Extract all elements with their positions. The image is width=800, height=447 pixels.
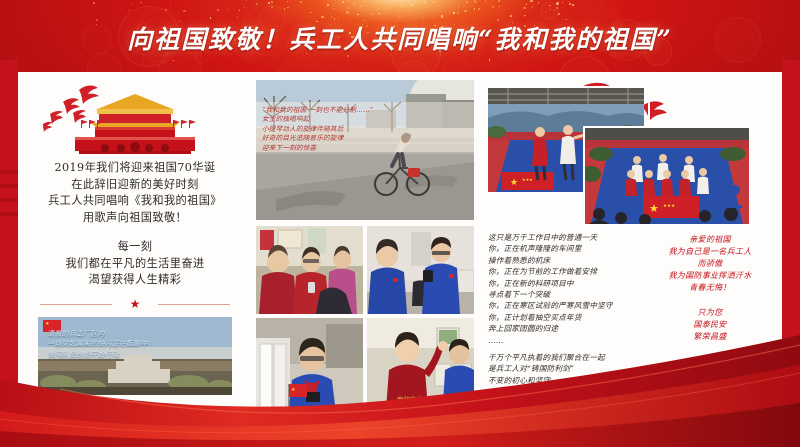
middle-photo-column: “我和我的祖国 一刻也不能分割……” 女生的独唱响起 小提琴动人的旋律伴随其后 … [256,80,474,424]
photo-two-workers [367,226,474,314]
subtitle-line: 我们都在平凡的生活里奋进 [30,256,240,273]
factory-building-photo: ★ 清晨的兵工厂区内 一场突如其来的快闪正在酝酿中 快闪队员纷纷开始行动 [38,317,232,395]
svg-text:★: ★ [649,203,659,215]
dedication-line: 青春无悔！ [640,282,780,294]
intro-line: 在此辞旧迎新的美好时刻 [30,177,240,194]
caption-line: 好奇的目光追随音乐的旋律 [262,134,373,143]
photo-man-with-flag: ★ [256,318,363,422]
flying-doves-icon [43,86,99,132]
poem-line: 你，正计划着抽空买点年货 [488,312,638,323]
road-photo-caption: “我和我的祖国 一刻也不能分割……” 女生的独唱响起 小提琴动人的旋律伴随其后 … [262,106,373,153]
intro-line: 兵工人共同唱响《我和我的祖国》 [30,193,240,210]
intro-line: 用歌声向祖国致敬！ [30,210,240,227]
factory-photo-caption: 清晨的兵工厂区内 一场突如其来的快闪正在酝酿中 快闪队员纷纷开始行动 [47,329,148,361]
closing-line: 千万个平凡执着的我们聚合在一起 [488,352,638,363]
caption-line: 一场突如其来的快闪正在酝酿中 [47,339,148,350]
section-divider: ★ [40,297,230,311]
frame-right-border [782,60,800,445]
subtitle-line: 渴望获得人生精彩 [30,272,240,289]
divider-line-right [158,304,230,305]
svg-text:★★★: ★★★ [522,177,533,182]
caption-line: 清晨的兵工厂区内 [47,329,148,340]
poem-line: 操作着熟悉的机床 [488,255,638,266]
dedication-line: 而骄傲 [640,258,780,270]
poem-line: 奔上回家团圆的归途 [488,323,638,334]
svg-text:祖国: 祖国 [401,404,415,413]
dedication-line: 只为您 [640,307,780,319]
svg-text:★: ★ [291,387,296,393]
road-cyclist-photo: “我和我的祖国 一刻也不能分割……” 女生的独唱响起 小提琴动人的旋律伴随其后 … [256,80,474,220]
poem-line: …… [488,335,638,346]
poem-line: 寻点着下一个突破 [488,289,638,300]
caption-line: 快闪队员纷纷开始行动 [47,350,148,361]
poster-root: 向祖国致敬！兵工人共同唱响“我和我的祖国” [0,0,800,447]
intro-line: 2019年我们将迎来祖国70华诞 [30,160,240,177]
dedication-line: 国泰民安 [640,319,780,331]
svg-text:我和我的: 我和我的 [397,395,424,404]
poem-line: 你，正在为节前的工作做着安排 [488,266,638,277]
text-gap [30,226,240,239]
dedication-line: 我为国防事业挥洒汗水 [640,270,780,282]
dedication-line: 亲爱的祖国 [640,234,780,246]
poem-line: 这只是万千工作日中的普通一天 [488,232,638,243]
tiananmen-gate-icon [35,80,235,156]
left-column: 2019年我们将迎来祖国70华诞 在此辞旧迎新的美好时刻 兵工人共同唱响《我和我… [30,78,240,426]
closing-line: 是兵工人对“铸国防利剑” [488,363,638,374]
red-star-icon: ★ [129,298,141,310]
page-title: 向祖国致敬！兵工人共同唱响“我和我的祖国” [0,20,800,56]
poem-line: 你，正在新的科研项目中 [488,278,638,289]
photo-singing-women [256,226,363,314]
right-dedication-text: 亲爱的祖国 我为自己是一名兵工人 而骄傲 我为国防事业挥洒汗水 青春无悔！ 只为… [640,234,780,343]
dedication-line: 繁荣昌盛 [640,331,780,343]
center-poem-text: 这只是万千工作日中的普通一天 你，正在机声隆隆的车间里 操作着熟悉的机床 你，正… [488,232,638,386]
text-gap [640,294,780,307]
caption-line: “我和我的祖国 一刻也不能分割……” [262,106,373,115]
dedication-line: 我为自己是一名兵工人 [640,246,780,258]
photo-waving-girl: 我和我的 祖国 [367,318,474,422]
poem-line: 你，正在寒区试验的严寒风雪中坚守 [488,300,638,311]
caption-line: 小提琴动人的旋律伴随其后 [262,125,373,134]
caption-line: 迎来下一刻的惊喜 [262,144,373,153]
photo-hall-chorus: ★ ★★★ [583,126,755,230]
right-photo-column: ★ ★★★ [486,78,776,228]
divider-line-left [40,304,112,305]
closing-line: 不变的初心和坚守 [488,375,638,386]
header-banner: 向祖国致敬！兵工人共同唱响“我和我的祖国” [0,0,800,72]
left-intro-text: 2019年我们将迎来祖国70华诞 在此辞旧迎新的美好时刻 兵工人共同唱响《我和我… [30,160,240,289]
poem-line: 你，正在机声隆隆的车间里 [488,243,638,254]
svg-text:★★★: ★★★ [663,203,675,208]
frame-left-border [0,60,18,445]
subtitle-line: 每一刻 [30,239,240,256]
svg-text:★: ★ [510,177,518,187]
poster-canvas: 2019年我们将迎来祖国70华诞 在此辞旧迎新的美好时刻 兵工人共同唱响《我和我… [18,72,782,430]
caption-line: 女生的独唱响起 [262,115,373,124]
